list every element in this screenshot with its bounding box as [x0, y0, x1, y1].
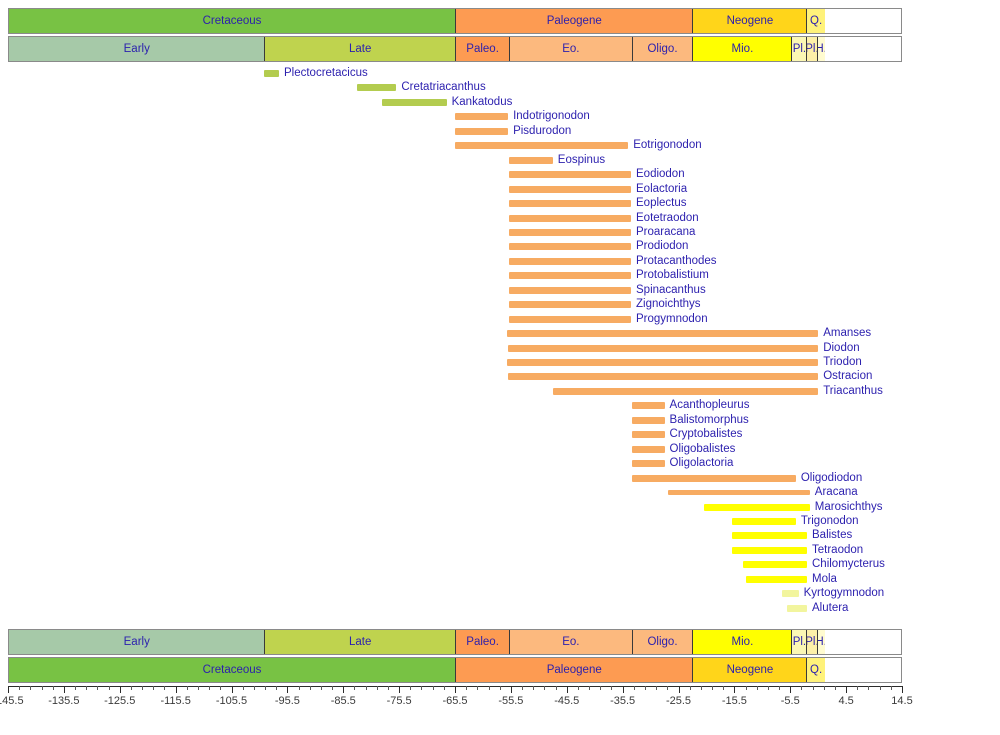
timescale-epochs-bottom: EarlyLatePaleo.Eo.Oligo.Mio.Pl.Pl.H. — [8, 629, 902, 655]
axis-minor-tick — [690, 686, 691, 690]
epoch-band-mio: Mio. — [693, 37, 792, 61]
axis-minor-tick — [768, 686, 769, 690]
taxon-label: Balistomorphus — [670, 413, 749, 427]
timescale-periods-bottom: CretaceousPaleogeneNeogeneQ. — [8, 657, 902, 683]
range-bar — [509, 157, 553, 164]
range-bar — [508, 345, 818, 352]
epoch-band-paleo: Paleo. — [456, 37, 510, 61]
period-band-paleogene: Paleogene — [456, 9, 693, 33]
taxon-label: Chilomycterus — [812, 557, 885, 571]
range-bar — [509, 287, 631, 294]
axis-minor-tick — [723, 686, 724, 690]
axis-minor-tick — [220, 686, 221, 690]
axis-tick-label: -55.5 — [498, 695, 523, 707]
taxon-row: Amanses — [0, 326, 1000, 340]
axis-tick-label: 4.5 — [838, 695, 853, 707]
axis-minor-tick — [757, 686, 758, 690]
axis-minor-tick — [533, 686, 534, 690]
axis-minor-tick — [857, 686, 858, 690]
taxon-row: Oligodiodon — [0, 471, 1000, 485]
timescale-periods-top: CretaceousPaleogeneNeogeneQ. — [8, 8, 902, 34]
axis-minor-tick — [75, 686, 76, 690]
range-bar — [509, 186, 631, 193]
axis-minor-tick — [712, 686, 713, 690]
taxon-row: Aracana — [0, 485, 1000, 499]
taxon-label: Triodon — [823, 355, 862, 369]
range-bar — [632, 460, 665, 467]
axis-tick — [679, 686, 680, 693]
taxon-row: Eospinus — [0, 153, 1000, 167]
taxon-row: Eodiodon — [0, 167, 1000, 181]
taxon-label: Eoplectus — [636, 196, 687, 210]
taxon-label: Oligolactoria — [670, 456, 734, 470]
axis-tick-label: -45.5 — [554, 695, 579, 707]
taxon-row: Chilomycterus — [0, 557, 1000, 571]
period-band-cretaceous: Cretaceous — [9, 658, 456, 682]
taxon-label: Indotrigonodon — [513, 109, 590, 123]
axis-minor-tick — [701, 686, 702, 690]
epoch-band-late: Late — [265, 630, 456, 654]
axis-minor-tick — [544, 686, 545, 690]
epoch-band-pl: Pl. — [807, 37, 817, 61]
axis-minor-tick — [97, 686, 98, 690]
axis-minor-tick — [276, 686, 277, 690]
axis-minor-tick — [801, 686, 802, 690]
taxon-row: Ostracion — [0, 369, 1000, 383]
range-bar — [357, 84, 396, 91]
axis-minor-tick — [53, 686, 54, 690]
axis-minor-tick — [243, 686, 244, 690]
taxon-label: Mola — [812, 572, 837, 586]
range-bar — [632, 431, 665, 438]
taxon-label: Amanses — [823, 326, 871, 340]
axis-tick — [64, 686, 65, 693]
axis-minor-tick — [667, 686, 668, 690]
axis-minor-tick — [142, 686, 143, 690]
axis-tick — [399, 686, 400, 693]
axis-minor-tick — [891, 686, 892, 690]
taxon-label: Cryptobalistes — [670, 427, 743, 441]
axis-tick — [734, 686, 735, 693]
period-band-cretaceous: Cretaceous — [9, 9, 456, 33]
taxon-label: Eospinus — [558, 153, 605, 167]
epoch-band-h: H. — [818, 37, 825, 61]
taxon-label: Eolactoria — [636, 182, 687, 196]
axis-minor-tick — [209, 686, 210, 690]
axis-minor-tick — [299, 686, 300, 690]
period-band-q: Q. — [807, 658, 824, 682]
axis-tick-label: 14.5 — [891, 695, 912, 707]
axis-minor-tick — [377, 686, 378, 690]
taxon-label: Cretatriacanthus — [401, 80, 485, 94]
taxon-label: Proaracana — [636, 225, 695, 239]
range-bar — [732, 532, 807, 539]
axis-tick-label: -125.5 — [104, 695, 135, 707]
epoch-band-pl: Pl. — [807, 630, 817, 654]
axis-minor-tick — [656, 686, 657, 690]
taxon-label: Oligodiodon — [801, 471, 862, 485]
range-bar — [382, 99, 446, 106]
taxon-row: Proaracana — [0, 225, 1000, 239]
axis-minor-tick — [522, 686, 523, 690]
range-bar — [508, 373, 818, 380]
axis-minor-tick — [109, 686, 110, 690]
axis-minor-tick — [30, 686, 31, 690]
range-bar — [509, 229, 631, 236]
range-bar — [668, 490, 809, 495]
period-band-paleogene: Paleogene — [456, 658, 693, 682]
taxon-row: Eotetraodon — [0, 211, 1000, 225]
range-bar — [455, 113, 508, 120]
axis-tick — [120, 686, 121, 693]
taxon-row: Pisdurodon — [0, 124, 1000, 138]
range-bar — [455, 142, 628, 149]
taxon-row: Spinacanthus — [0, 283, 1000, 297]
taxon-label: Oligobalistes — [670, 442, 736, 456]
axis-minor-tick — [477, 686, 478, 690]
axis-tick-label: -75.5 — [387, 695, 412, 707]
axis-tick — [176, 686, 177, 693]
taxon-label: Kankatodus — [452, 95, 513, 109]
axis-minor-tick — [131, 686, 132, 690]
epoch-band-oligo: Oligo. — [633, 37, 694, 61]
taxon-label: Progymnodon — [636, 312, 708, 326]
epoch-band-early: Early — [9, 630, 265, 654]
taxon-label: Plectocretacicus — [284, 66, 368, 80]
axis-tick — [567, 686, 568, 693]
axis-minor-tick — [645, 686, 646, 690]
axis-tick-label: -95.5 — [275, 695, 300, 707]
axis-tick — [8, 686, 9, 693]
axis-minor-tick — [466, 686, 467, 690]
axis-minor-tick — [868, 686, 869, 690]
range-bar — [509, 171, 631, 178]
taxon-row: Oligolactoria — [0, 456, 1000, 470]
taxon-label: Marosichthys — [815, 500, 883, 514]
axis-tick-label: -5.5 — [781, 695, 800, 707]
taxon-row: Prodiodon — [0, 239, 1000, 253]
range-bar — [509, 258, 631, 265]
taxon-row: Progymnodon — [0, 312, 1000, 326]
range-bar — [632, 402, 665, 409]
axis-minor-tick — [86, 686, 87, 690]
taxon-label: Zignoichthys — [636, 297, 701, 311]
epoch-band-paleo: Paleo. — [456, 630, 510, 654]
taxon-label: Balistes — [812, 528, 852, 542]
taxon-row: Trigonodon — [0, 514, 1000, 528]
axis-tick-label: -85.5 — [331, 695, 356, 707]
epoch-band-mio: Mio. — [693, 630, 792, 654]
taxon-row: Zignoichthys — [0, 297, 1000, 311]
axis-tick — [623, 686, 624, 693]
range-bar — [507, 359, 818, 366]
range-bar — [509, 215, 631, 222]
range-bar — [746, 576, 807, 583]
axis-minor-tick — [354, 686, 355, 690]
taxon-row: Triacanthus — [0, 384, 1000, 398]
taxon-row: Tetraodon — [0, 543, 1000, 557]
taxon-label: Prodiodon — [636, 239, 688, 253]
taxa-range-list: PlectocretacicusCretatriacanthusKankatod… — [0, 66, 1000, 626]
range-bar — [743, 561, 807, 568]
axis-tick-label: -115.5 — [160, 695, 190, 707]
axis-tick-label: -135.5 — [48, 695, 79, 707]
range-bar — [509, 316, 631, 323]
axis-minor-tick — [578, 686, 579, 690]
axis-minor-tick — [824, 686, 825, 690]
range-bar — [507, 330, 818, 337]
taxon-row: Alutera — [0, 601, 1000, 615]
epoch-band-pl: Pl. — [792, 630, 807, 654]
axis-minor-tick — [746, 686, 747, 690]
range-bar — [264, 70, 279, 77]
period-band-neogene: Neogene — [693, 658, 807, 682]
axis-minor-tick — [388, 686, 389, 690]
axis-tick — [232, 686, 233, 693]
period-band-q: Q. — [807, 9, 824, 33]
taxon-row: Cryptobalistes — [0, 427, 1000, 441]
axis-tick — [790, 686, 791, 693]
taxon-label: Aracana — [815, 485, 858, 499]
epoch-band-eo: Eo. — [510, 630, 632, 654]
taxon-label: Trigonodon — [801, 514, 859, 528]
range-bar — [509, 272, 631, 279]
stratigraphic-range-chart: CretaceousPaleogeneNeogeneQ. EarlyLatePa… — [0, 0, 1000, 735]
axis-tick — [511, 686, 512, 693]
taxon-row: Cretatriacanthus — [0, 80, 1000, 94]
axis-minor-tick — [813, 686, 814, 690]
epoch-band-oligo: Oligo. — [633, 630, 694, 654]
axis-tick-label: -105.5 — [216, 695, 247, 707]
axis-minor-tick — [634, 686, 635, 690]
axis-minor-tick — [410, 686, 411, 690]
range-bar — [704, 504, 810, 511]
taxon-label: Eodiodon — [636, 167, 685, 181]
taxon-label: Kyrtogymnodon — [804, 586, 885, 600]
range-bar — [509, 200, 631, 207]
range-bar — [509, 301, 631, 308]
axis-tick-label: -65.5 — [442, 695, 467, 707]
axis-minor-tick — [556, 686, 557, 690]
axis-minor-tick — [198, 686, 199, 690]
taxon-label: Protacanthodes — [636, 254, 717, 268]
taxon-label: Eotetraodon — [636, 211, 699, 225]
range-bar — [732, 547, 807, 554]
taxon-row: Protobalistium — [0, 268, 1000, 282]
taxon-label: Tetraodon — [812, 543, 863, 557]
timescale-epochs-top: EarlyLatePaleo.Eo.Oligo.Mio.Pl.Pl.H. — [8, 36, 902, 62]
axis-tick — [902, 686, 903, 693]
taxon-label: Pisdurodon — [513, 124, 571, 138]
taxon-row: Diodon — [0, 341, 1000, 355]
range-bar — [632, 475, 796, 482]
x-axis: -145.5-135.5-125.5-115.5-105.5-95.5-85.5… — [8, 686, 902, 687]
axis-minor-tick — [500, 686, 501, 690]
range-bar — [782, 590, 799, 597]
taxon-row: Eolactoria — [0, 182, 1000, 196]
axis-minor-tick — [589, 686, 590, 690]
range-bar — [732, 518, 796, 525]
axis-tick — [343, 686, 344, 693]
axis-minor-tick — [421, 686, 422, 690]
taxon-label: Acanthopleurus — [670, 398, 750, 412]
axis-minor-tick — [489, 686, 490, 690]
taxon-row: Indotrigonodon — [0, 109, 1000, 123]
taxon-row: Kyrtogymnodon — [0, 586, 1000, 600]
range-bar — [632, 417, 665, 424]
axis-minor-tick — [153, 686, 154, 690]
range-bar — [509, 243, 631, 250]
range-bar — [787, 605, 807, 612]
taxon-row: Eoplectus — [0, 196, 1000, 210]
axis-minor-tick — [366, 686, 367, 690]
taxon-row: Marosichthys — [0, 500, 1000, 514]
axis-minor-tick — [779, 686, 780, 690]
taxon-row: Acanthopleurus — [0, 398, 1000, 412]
axis-minor-tick — [444, 686, 445, 690]
axis-minor-tick — [433, 686, 434, 690]
axis-tick — [287, 686, 288, 693]
epoch-band-early: Early — [9, 37, 265, 61]
axis-minor-tick — [19, 686, 20, 690]
axis-minor-tick — [254, 686, 255, 690]
epoch-band-h: H. — [818, 630, 825, 654]
axis-minor-tick — [187, 686, 188, 690]
axis-tick-label: -145.5 — [0, 695, 24, 707]
taxon-row: Plectocretacicus — [0, 66, 1000, 80]
axis-minor-tick — [880, 686, 881, 690]
taxon-row: Triodon — [0, 355, 1000, 369]
taxon-row: Protacanthodes — [0, 254, 1000, 268]
taxon-label: Diodon — [823, 341, 859, 355]
epoch-band-pl: Pl. — [792, 37, 807, 61]
axis-minor-tick — [164, 686, 165, 690]
range-bar — [455, 128, 508, 135]
axis-minor-tick — [835, 686, 836, 690]
period-band-neogene: Neogene — [693, 9, 807, 33]
axis-tick-label: -15.5 — [722, 695, 747, 707]
taxon-label: Triacanthus — [823, 384, 883, 398]
axis-minor-tick — [321, 686, 322, 690]
taxon-row: Oligobalistes — [0, 442, 1000, 456]
range-bar — [632, 446, 665, 453]
axis-minor-tick — [310, 686, 311, 690]
axis-tick-label: -25.5 — [666, 695, 691, 707]
taxon-label: Protobalistium — [636, 268, 709, 282]
taxon-row: Kankatodus — [0, 95, 1000, 109]
axis-minor-tick — [611, 686, 612, 690]
taxon-row: Mola — [0, 572, 1000, 586]
axis-minor-tick — [600, 686, 601, 690]
range-bar — [553, 388, 818, 395]
taxon-row: Eotrigonodon — [0, 138, 1000, 152]
axis-minor-tick — [42, 686, 43, 690]
axis-tick — [846, 686, 847, 693]
taxon-row: Balistes — [0, 528, 1000, 542]
taxon-label: Spinacanthus — [636, 283, 706, 297]
axis-tick-label: -35.5 — [610, 695, 635, 707]
epoch-band-eo: Eo. — [510, 37, 632, 61]
axis-minor-tick — [332, 686, 333, 690]
axis-minor-tick — [265, 686, 266, 690]
taxon-label: Ostracion — [823, 369, 872, 383]
taxon-row: Balistomorphus — [0, 413, 1000, 427]
axis-tick — [455, 686, 456, 693]
taxon-label: Alutera — [812, 601, 848, 615]
epoch-band-late: Late — [265, 37, 456, 61]
taxon-label: Eotrigonodon — [633, 138, 701, 152]
